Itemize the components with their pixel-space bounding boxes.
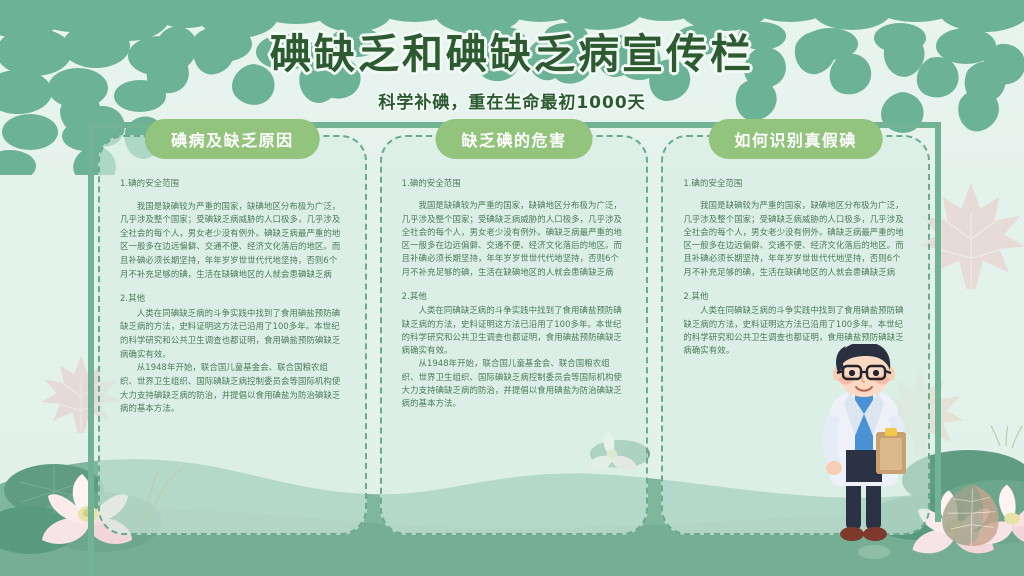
card-3-body: 1.碘的安全范围 我国是缺碘较为严重的国家，缺碘地区分布极为广泛，几乎涉及整个国… — [683, 177, 908, 357]
card-1-section-2-paragraph-2: 从1948年开始，联合国儿童基金会、联合国粮农组织、世界卫生组织、国际碘缺乏病控… — [120, 361, 345, 415]
poster-canvas: 碘缺乏和碘缺乏病宣传栏 科学补碘，重在生命最初1000天 — [0, 0, 1024, 576]
content-columns: 碘病及缺乏原因 1.碘的安全范围 我国是缺碘较为严重的国家，缺碘地区分布极为广泛… — [98, 135, 930, 535]
card-1-section-2-heading: 2.其他 — [120, 292, 345, 306]
page-title: 碘缺乏和碘缺乏病宣传栏 — [0, 32, 1024, 77]
card-column-2[interactable]: 缺乏碘的危害 1.碘的安全范围 我国是缺碘较为严重的国家，缺碘地区分布极为广泛，… — [380, 135, 649, 535]
card-2-section-2-paragraph-2: 从1948年开始，联合国儿童基金会、联合国粮农组织、世界卫生组织、国际碘缺乏病控… — [402, 357, 627, 410]
card-column-3[interactable]: 如何识别真假碘 1.碘的安全范围 我国是缺碘较为严重的国家，缺碘地区分布极为广泛… — [661, 135, 930, 535]
title-block: 碘缺乏和碘缺乏病宣传栏 科学补碘，重在生命最初1000天 — [0, 32, 1024, 113]
card-2-badge-title: 缺乏碘的危害 — [435, 119, 592, 159]
card-1-section-1-paragraph-1: 我国是缺碘较为严重的国家，缺碘地区分布极为广泛，几乎涉及整个国家；受碘缺乏病威胁… — [120, 200, 345, 282]
card-3-section-1-paragraph-1: 我国是缺碘较为严重的国家，缺碘地区分布极为广泛，几乎涉及整个国家；受碘缺乏病威胁… — [683, 199, 908, 279]
card-2-section-1-heading: 1.碘的安全范围 — [402, 177, 627, 190]
card-1-badge-title: 碘病及缺乏原因 — [145, 119, 320, 159]
card-2-section-2-heading: 2.其他 — [402, 290, 627, 303]
page-subtitle: 科学补碘，重在生命最初1000天 — [0, 88, 1024, 113]
card-1-section-2-paragraph-1: 人类在同碘缺乏病的斗争实践中找到了食用碘盐预防碘缺乏病的方法，史料证明这方法已沿… — [120, 307, 345, 361]
card-1-section-1-heading: 1.碘的安全范围 — [120, 177, 345, 191]
card-3-badge-title: 如何识别真假碘 — [708, 119, 883, 159]
card-column-1[interactable]: 碘病及缺乏原因 1.碘的安全范围 我国是缺碘较为严重的国家，缺碘地区分布极为广泛… — [98, 135, 367, 535]
card-3-section-1-heading: 1.碘的安全范围 — [683, 177, 908, 190]
card-3-section-2-heading: 2.其他 — [683, 290, 908, 303]
card-2-section-2-paragraph-1: 人类在同碘缺乏病的斗争实践中找到了食用碘盐预防碘缺乏病的方法，史料证明这方法已沿… — [402, 304, 627, 357]
card-2-body: 1.碘的安全范围 我国是缺碘较为严重的国家，缺碘地区分布极为广泛，几乎涉及整个国… — [402, 177, 627, 411]
frame-right-bar — [935, 122, 941, 522]
card-1-body: 1.碘的安全范围 我国是缺碘较为严重的国家，缺碘地区分布极为广泛，几乎涉及整个国… — [120, 177, 345, 416]
card-2-section-1-paragraph-1: 我国是缺碘较为严重的国家，缺碘地区分布极为广泛，几乎涉及整个国家；受碘缺乏病威胁… — [402, 199, 627, 279]
card-3-section-2-paragraph-1: 人类在同碘缺乏病的斗争实践中找到了食用碘盐预防碘缺乏病的方法，史料证明这方法已沿… — [683, 304, 908, 357]
frame-left-bar — [88, 122, 94, 576]
